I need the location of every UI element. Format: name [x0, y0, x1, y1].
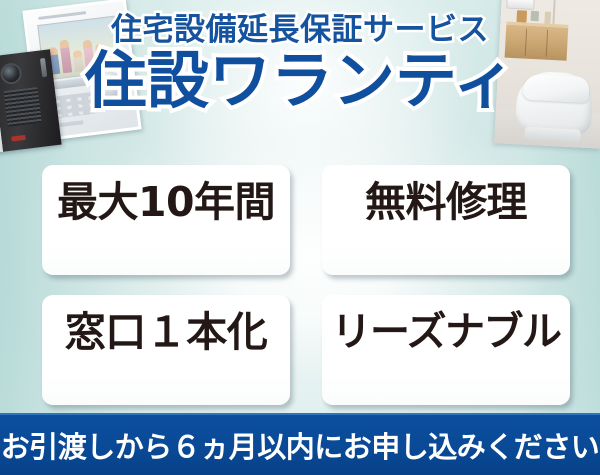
banner-title: 住設ワランティ	[0, 49, 600, 112]
cta-bar[interactable]: お引渡しから６ヵ月以内にお申し込みください	[0, 413, 600, 475]
header-text-block: 住宅設備延長保証サービス 住設ワランティ	[0, 14, 600, 112]
feature-label: 最大10年間	[57, 182, 275, 223]
feature-box-free-repair[interactable]: 無料修理	[322, 165, 570, 275]
feature-box-max-years[interactable]: 最大10年間	[42, 165, 290, 275]
feature-label: 無料修理	[365, 182, 527, 223]
feature-label: リーズナブル	[332, 312, 561, 352]
banner-subtitle: 住宅設備延長保証サービス	[0, 14, 600, 47]
promo-banner: 住宅設備延長保証サービス 住設ワランティ 最大10年間 無料修理 窓口１本化 リ…	[0, 0, 600, 475]
cta-text: お引渡しから６ヵ月以内にお申し込みください	[1, 424, 600, 466]
feature-box-reasonable[interactable]: リーズナブル	[322, 295, 570, 405]
feature-box-single-contact[interactable]: 窓口１本化	[42, 295, 290, 405]
wall-vent	[506, 0, 535, 10]
feature-label: 窓口１本化	[65, 312, 268, 353]
door-station-call-button	[11, 135, 26, 142]
feature-grid: 最大10年間 無料修理 窓口１本化 リーズナブル	[42, 165, 570, 405]
